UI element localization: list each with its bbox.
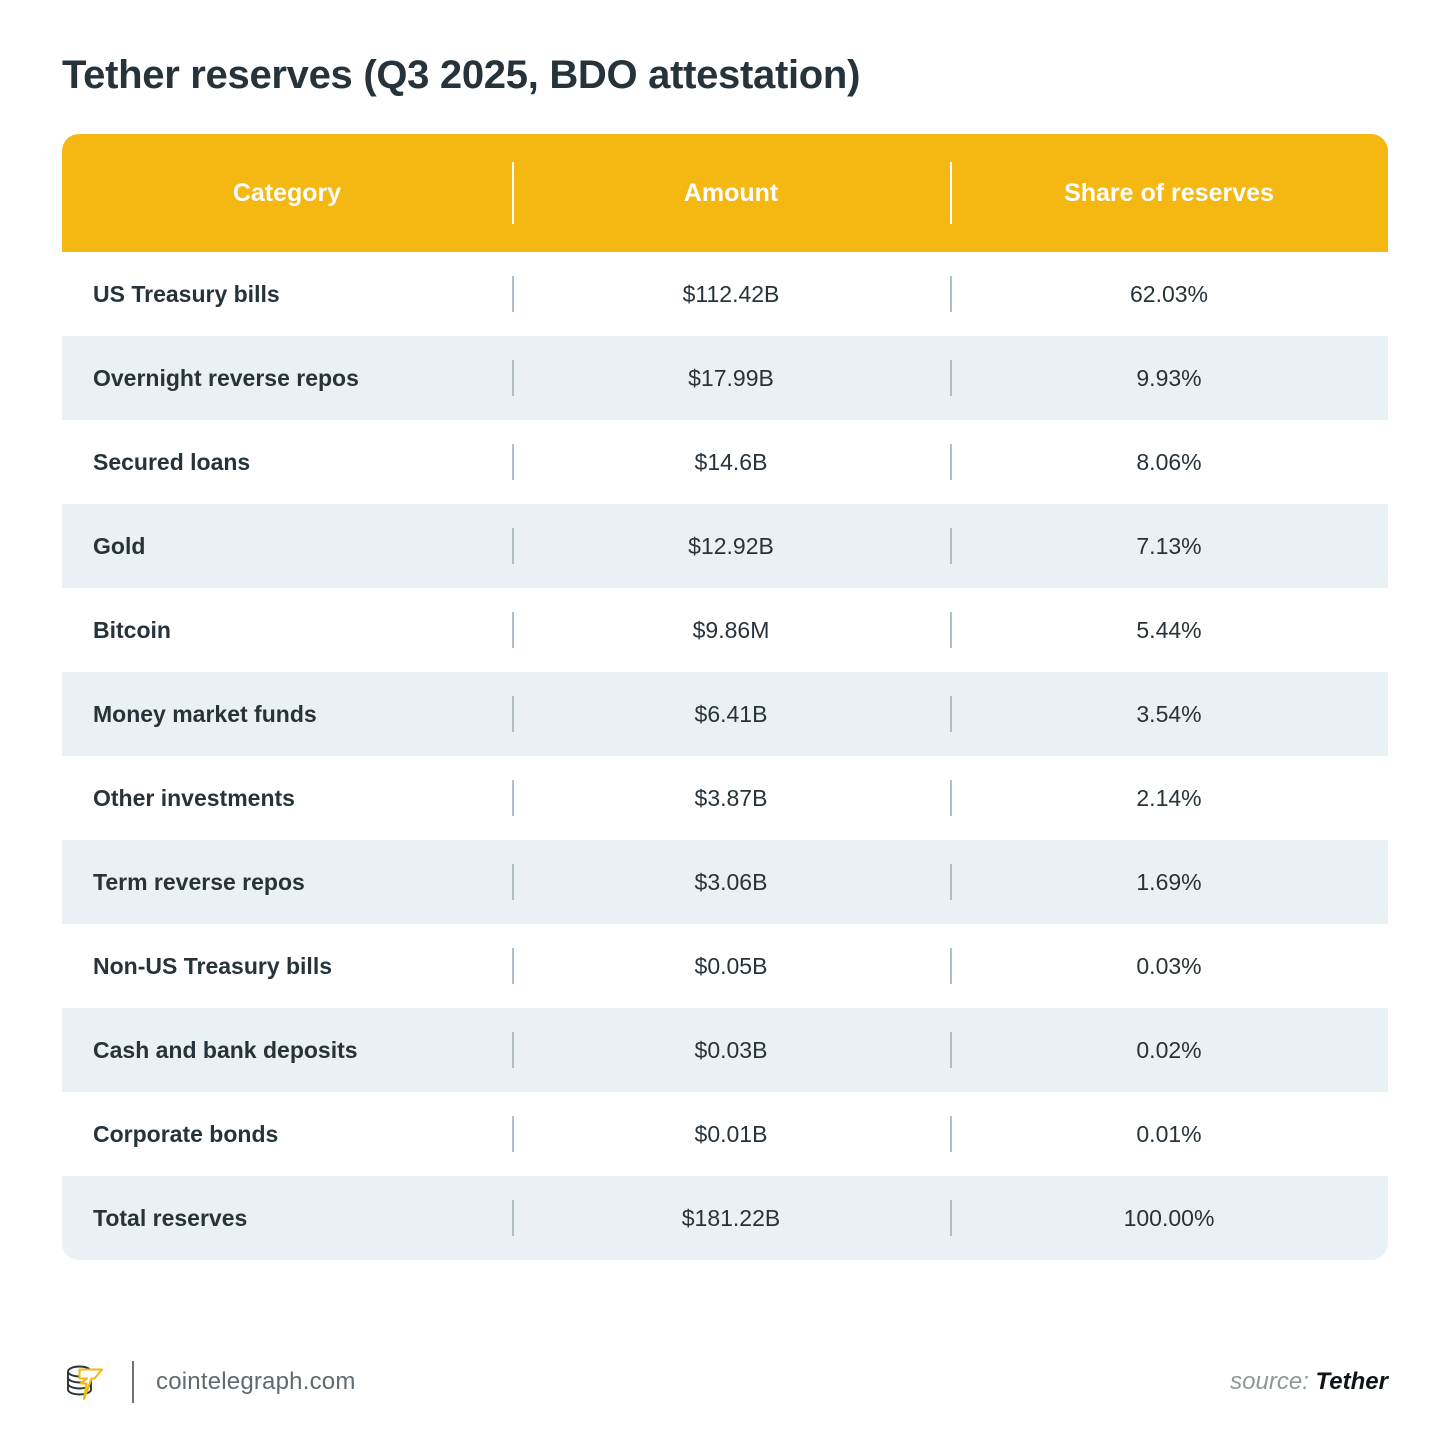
reserves-table: Category Amount Share of reserves US Tre… [62,134,1388,1260]
cell-category: Non-US Treasury bills [62,924,512,1008]
table-row: Secured loans $14.6B 8.06% [62,420,1388,504]
cell-category: Money market funds [62,672,512,756]
cell-share: 5.44% [950,588,1388,672]
footer-site-label: cointelegraph.com [156,1368,356,1396]
table-row: Non-US Treasury bills $0.05B 0.03% [62,924,1388,1008]
footer-divider [132,1361,134,1403]
cell-amount: $0.01B [512,1092,950,1176]
table-row: Term reverse repos $3.06B 1.69% [62,840,1388,924]
cell-amount: $3.06B [512,840,950,924]
cell-share: 0.01% [950,1092,1388,1176]
page-title: Tether reserves (Q3 2025, BDO attestatio… [62,0,1388,100]
cell-amount: $9.86M [512,588,950,672]
cell-amount: $181.22B [512,1176,950,1260]
table-row: Corporate bonds $0.01B 0.01% [62,1092,1388,1176]
cell-share: 0.02% [950,1008,1388,1092]
cell-share: 62.03% [950,252,1388,336]
table-row: Bitcoin $9.86M 5.44% [62,588,1388,672]
source-label: source: [1230,1368,1309,1395]
table-row: Money market funds $6.41B 3.54% [62,672,1388,756]
cell-share: 8.06% [950,420,1388,504]
table-row: Cash and bank deposits $0.03B 0.02% [62,1008,1388,1092]
cell-amount: $17.99B [512,336,950,420]
table-body: US Treasury bills $112.42B 62.03% Overni… [62,252,1388,1260]
cell-category: Bitcoin [62,588,512,672]
table-row: Overnight reverse repos $17.99B 9.93% [62,336,1388,420]
cell-category: Overnight reverse repos [62,336,512,420]
column-header-category: Category [62,134,512,252]
cell-share: 2.14% [950,756,1388,840]
table-header-row: Category Amount Share of reserves [62,134,1388,252]
footer-brand: cointelegraph.com [62,1359,356,1405]
cointelegraph-logo-icon [62,1359,108,1405]
cell-category: Cash and bank deposits [62,1008,512,1092]
cell-category: Total reserves [62,1176,512,1260]
table-row: US Treasury bills $112.42B 62.03% [62,252,1388,336]
table-row: Other investments $3.87B 2.14% [62,756,1388,840]
cell-category: US Treasury bills [62,252,512,336]
cell-category: Corporate bonds [62,1092,512,1176]
cell-share: 100.00% [950,1176,1388,1260]
infographic-page: Tether reserves (Q3 2025, BDO attestatio… [0,0,1450,1455]
cell-amount: $14.6B [512,420,950,504]
table-header: Category Amount Share of reserves [62,134,1388,252]
cell-category: Secured loans [62,420,512,504]
cell-share: 3.54% [950,672,1388,756]
cell-share: 7.13% [950,504,1388,588]
cell-amount: $0.03B [512,1008,950,1092]
cell-amount: $12.92B [512,504,950,588]
cell-amount: $112.42B [512,252,950,336]
cell-category: Other investments [62,756,512,840]
cell-amount: $0.05B [512,924,950,1008]
column-header-share: Share of reserves [950,134,1388,252]
cell-amount: $6.41B [512,672,950,756]
cell-category: Gold [62,504,512,588]
table-row-total: Total reserves $181.22B 100.00% [62,1176,1388,1260]
column-header-amount: Amount [512,134,950,252]
source-attribution: source: Tether [1230,1368,1388,1396]
cell-share: 9.93% [950,336,1388,420]
cell-amount: $3.87B [512,756,950,840]
cell-share: 1.69% [950,840,1388,924]
cell-category: Term reverse repos [62,840,512,924]
table-row: Gold $12.92B 7.13% [62,504,1388,588]
footer: cointelegraph.com source: Tether [62,1353,1388,1411]
cell-share: 0.03% [950,924,1388,1008]
source-name: Tether [1316,1368,1388,1395]
